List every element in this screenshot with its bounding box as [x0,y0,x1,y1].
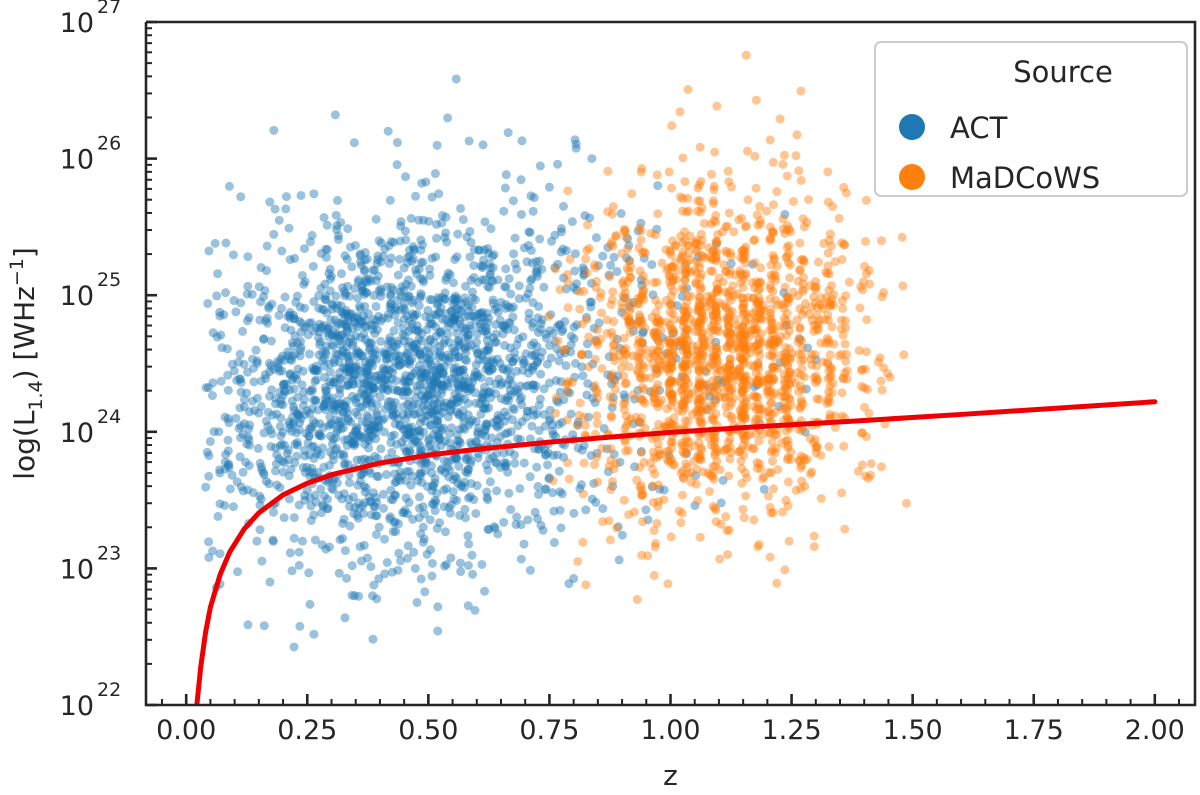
x-tick-label: 2.00 [1125,715,1185,746]
y-tick-label: 1022 [60,679,122,722]
y-tick-label: 1025 [60,269,122,312]
svg-text:23: 23 [97,542,121,564]
legend-marker-icon [899,114,925,140]
x-tick-label: 0.75 [519,715,579,746]
x-tick-label: 0.25 [277,715,337,746]
scatter-plot: 0.000.250.500.751.001.251.501.752.001022… [0,0,1200,795]
data-points-layer [201,51,911,652]
svg-text:10: 10 [60,145,94,176]
x-tick-label: 1.25 [762,715,822,746]
svg-text:27: 27 [97,0,121,18]
svg-text:10: 10 [60,691,94,722]
x-tick-label: 1.00 [640,715,700,746]
svg-text:22: 22 [97,679,121,701]
x-tick-label: 1.50 [883,715,943,746]
x-tick-label: 0.00 [156,715,216,746]
svg-text:10: 10 [60,554,94,585]
y-tick-label: 1024 [60,406,122,449]
legend-marker-icon [899,164,925,190]
svg-text:25: 25 [97,269,121,291]
svg-text:10: 10 [60,8,94,39]
svg-text:10: 10 [60,418,94,449]
x-axis-title: z [663,759,678,792]
legend[interactable]: SourceACTMaDCoWS [875,42,1187,196]
legend-item-label: ACT [950,111,1008,145]
svg-text:10: 10 [60,281,94,312]
x-tick-label: 1.75 [1004,715,1064,746]
x-tick-label: 0.50 [398,715,458,746]
y-axis-title: log(L1.4) [WHz−1] [6,247,47,480]
svg-text:26: 26 [97,133,121,155]
series-madcows-points [544,51,911,604]
figure-canvas: 0.000.250.500.751.001.251.501.752.001022… [0,0,1200,795]
legend-item-label: MaDCoWS [950,161,1100,195]
svg-text:log(L1.4) [WHz−1]: log(L1.4) [WHz−1] [6,247,47,480]
legend-title: Source [1013,55,1113,89]
svg-text:24: 24 [97,406,121,428]
y-axis: 102210231024102510261027 [60,0,157,722]
y-tick-label: 1026 [60,133,122,176]
x-axis: 0.000.250.500.751.001.251.501.752.00 [156,694,1185,746]
y-tick-label: 1027 [60,0,122,39]
y-tick-label: 1023 [60,542,122,585]
